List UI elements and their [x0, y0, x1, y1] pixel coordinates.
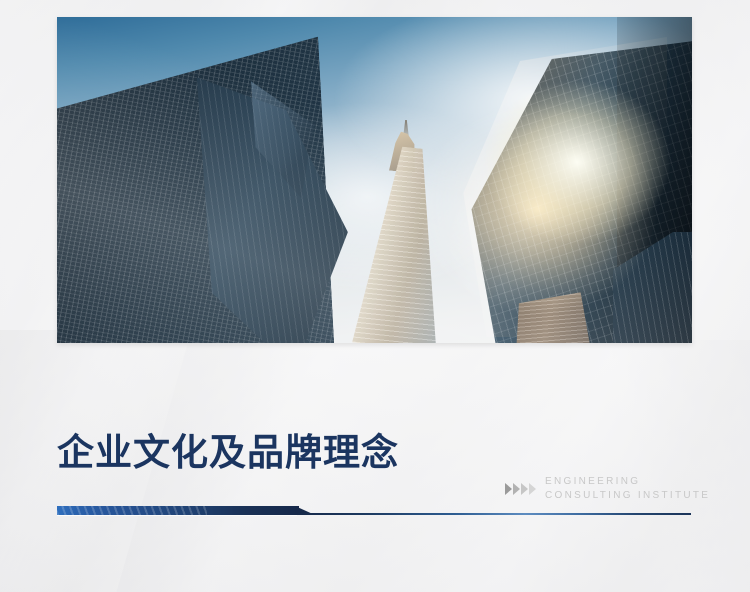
brand-line-1: ENGINEERING — [545, 476, 710, 488]
brand-line-2: CONSULTING INSTITUTE — [545, 490, 710, 502]
title-underline-rule — [57, 504, 691, 518]
hero-image-canvas — [57, 17, 692, 343]
rule-thin-line — [296, 513, 691, 515]
brand-text: ENGINEERING CONSULTING INSTITUTE — [545, 476, 710, 502]
chevron-arrows-icon — [505, 483, 536, 495]
chevron-right-icon — [513, 483, 520, 495]
hero-image — [57, 17, 692, 343]
rule-white-baseline — [57, 515, 297, 516]
chevron-right-icon — [529, 483, 536, 495]
chevron-right-icon — [521, 483, 528, 495]
brand-lockup: ENGINEERING CONSULTING INSTITUTE — [505, 476, 710, 502]
rule-bar-sheen — [57, 506, 207, 515]
slide-root: 企业文化及品牌理念 ENGINEERING CONSULTING INSTITU… — [0, 0, 750, 592]
page-title: 企业文化及品牌理念 — [57, 434, 399, 471]
chevron-right-icon — [505, 483, 512, 495]
